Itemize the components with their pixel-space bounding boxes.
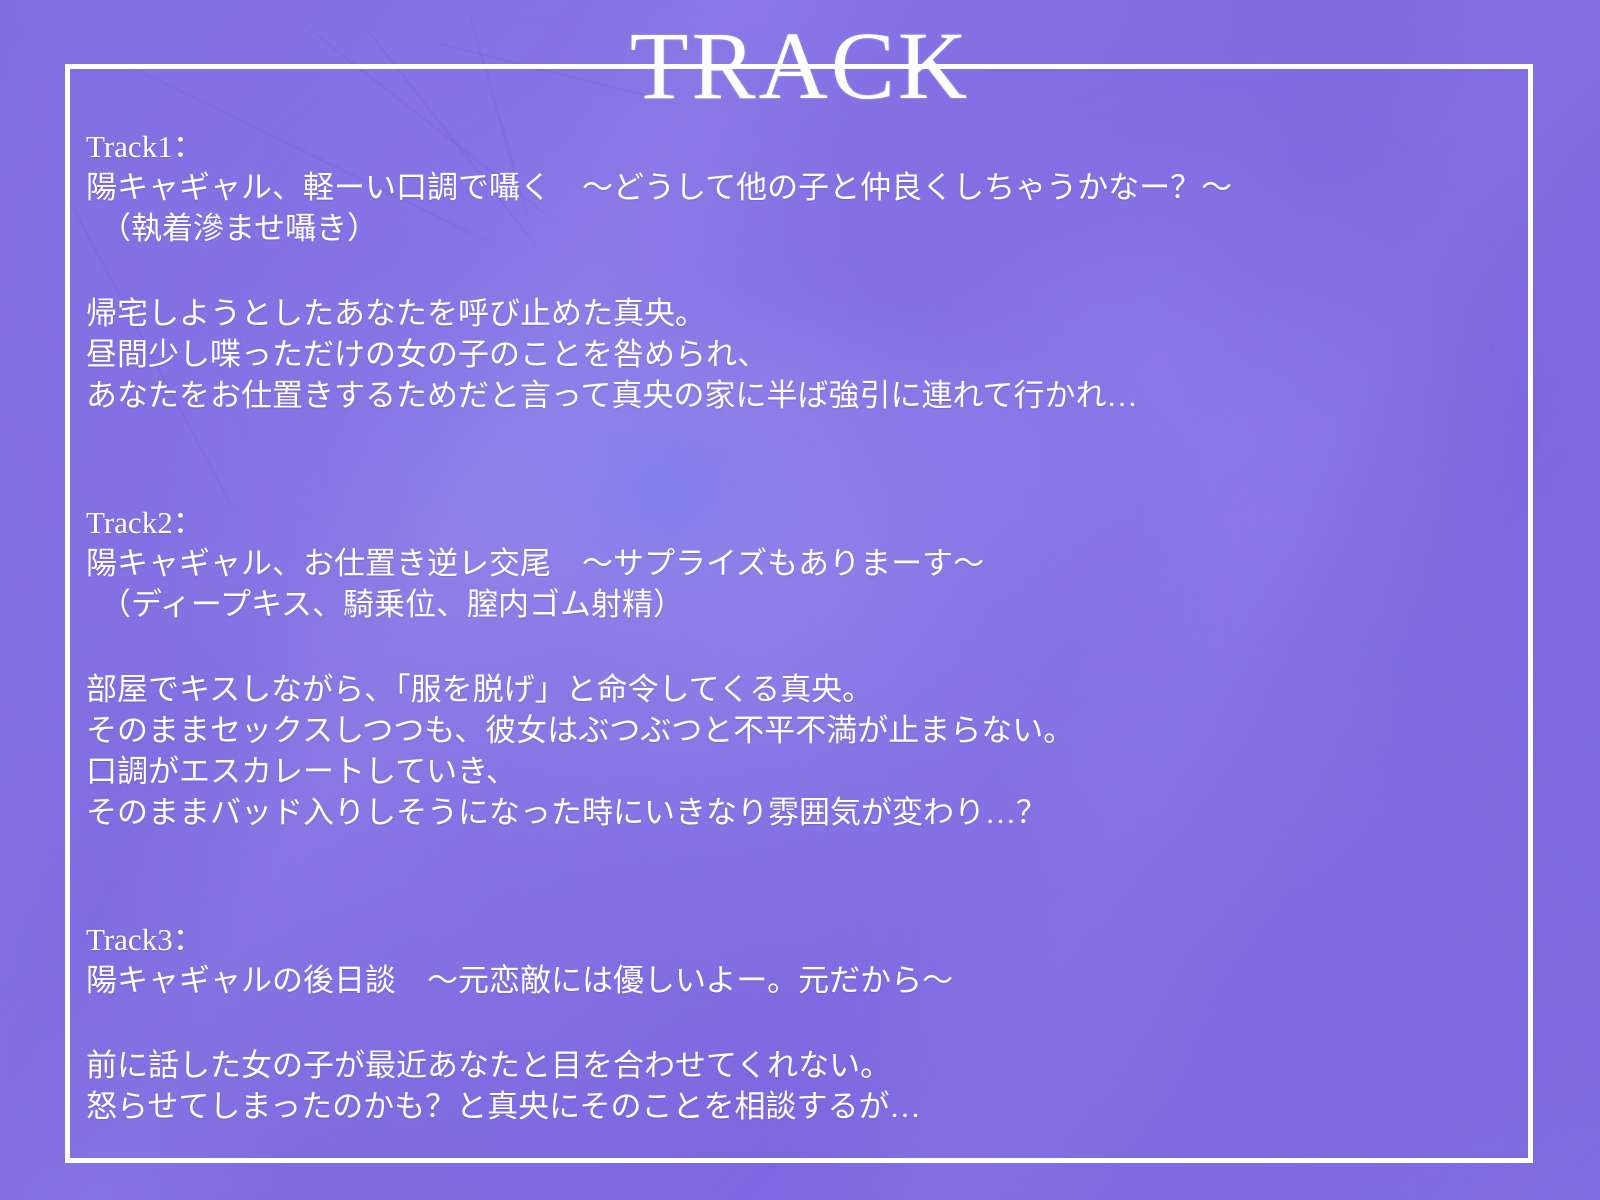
track-list-page: TRACK Track1： 陽キャギャル、軽ーい口調で囁く 〜どうして他の子と仲… xyxy=(0,0,1600,1200)
track-2-description-line-3: 口調がエスカレートしていき、 xyxy=(86,751,1506,792)
title-rule-left xyxy=(164,64,584,69)
track-content: Track1： 陽キャギャル、軽ーい口調で囁く 〜どうして他の子と仲良くしちゃう… xyxy=(86,126,1506,1127)
track-2-tags: （ディープキス、騎乗位、膣内ゴム射精） xyxy=(86,584,1506,625)
track-1-description-line-2: 昼間少し喋っただけの女の子のことを咎められ、 xyxy=(86,334,1506,375)
page-title: TRACK xyxy=(630,18,970,114)
page-title-row: TRACK xyxy=(0,0,1600,132)
track-1-description-line-1: 帰宅しようとしたあなたを呼び止めた真央。 xyxy=(86,293,1506,334)
spacer xyxy=(86,833,1506,919)
track-1-description-line-3: あなたをお仕置きするためだと言って真央の家に半ば強引に連れて行かれ… xyxy=(86,375,1506,416)
track-2-description-line-4: そのままバッド入りしそうになった時にいきなり雰囲気が変わり…？ xyxy=(86,792,1506,833)
track-3-description-line-1: 前に話した女の子が最近あなたと目を合わせてくれない。 xyxy=(86,1045,1506,1086)
spacer xyxy=(86,416,1506,502)
track-1-number: Track1： xyxy=(86,126,1506,167)
track-1-tags: （執着滲ませ囁き） xyxy=(86,208,1506,249)
track-2-number: Track2： xyxy=(86,502,1506,543)
track-2-subtitle: 陽キャギャル、お仕置き逆レ交尾 〜サプライズもありまーす〜 xyxy=(86,543,1506,584)
track-block-3: Track3： 陽キャギャルの後日談 〜元恋敵には優しいよー。元だから〜 前に話… xyxy=(86,919,1506,1127)
track-block-2: Track2： 陽キャギャル、お仕置き逆レ交尾 〜サプライズもありまーす〜 （デ… xyxy=(86,502,1506,833)
spacer xyxy=(86,1001,1506,1045)
track-3-description-line-2: 怒らせてしまったのかも？と真央にそのことを相談するが… xyxy=(86,1086,1506,1127)
title-rule-right xyxy=(1016,64,1436,69)
track-2-description-line-2: そのままセックスしつつも、彼女はぶつぶつと不平不満が止まらない。 xyxy=(86,710,1506,751)
track-3-subtitle: 陽キャギャルの後日談 〜元恋敵には優しいよー。元だから〜 xyxy=(86,960,1506,1001)
spacer xyxy=(86,249,1506,293)
track-3-number: Track3： xyxy=(86,919,1506,960)
track-1-subtitle: 陽キャギャル、軽ーい口調で囁く 〜どうして他の子と仲良くしちゃうかなー？〜 xyxy=(86,167,1506,208)
track-block-1: Track1： 陽キャギャル、軽ーい口調で囁く 〜どうして他の子と仲良くしちゃう… xyxy=(86,126,1506,416)
spacer xyxy=(86,625,1506,669)
track-2-description-line-1: 部屋でキスしながら、「服を脱げ」と命令してくる真央。 xyxy=(86,669,1506,710)
